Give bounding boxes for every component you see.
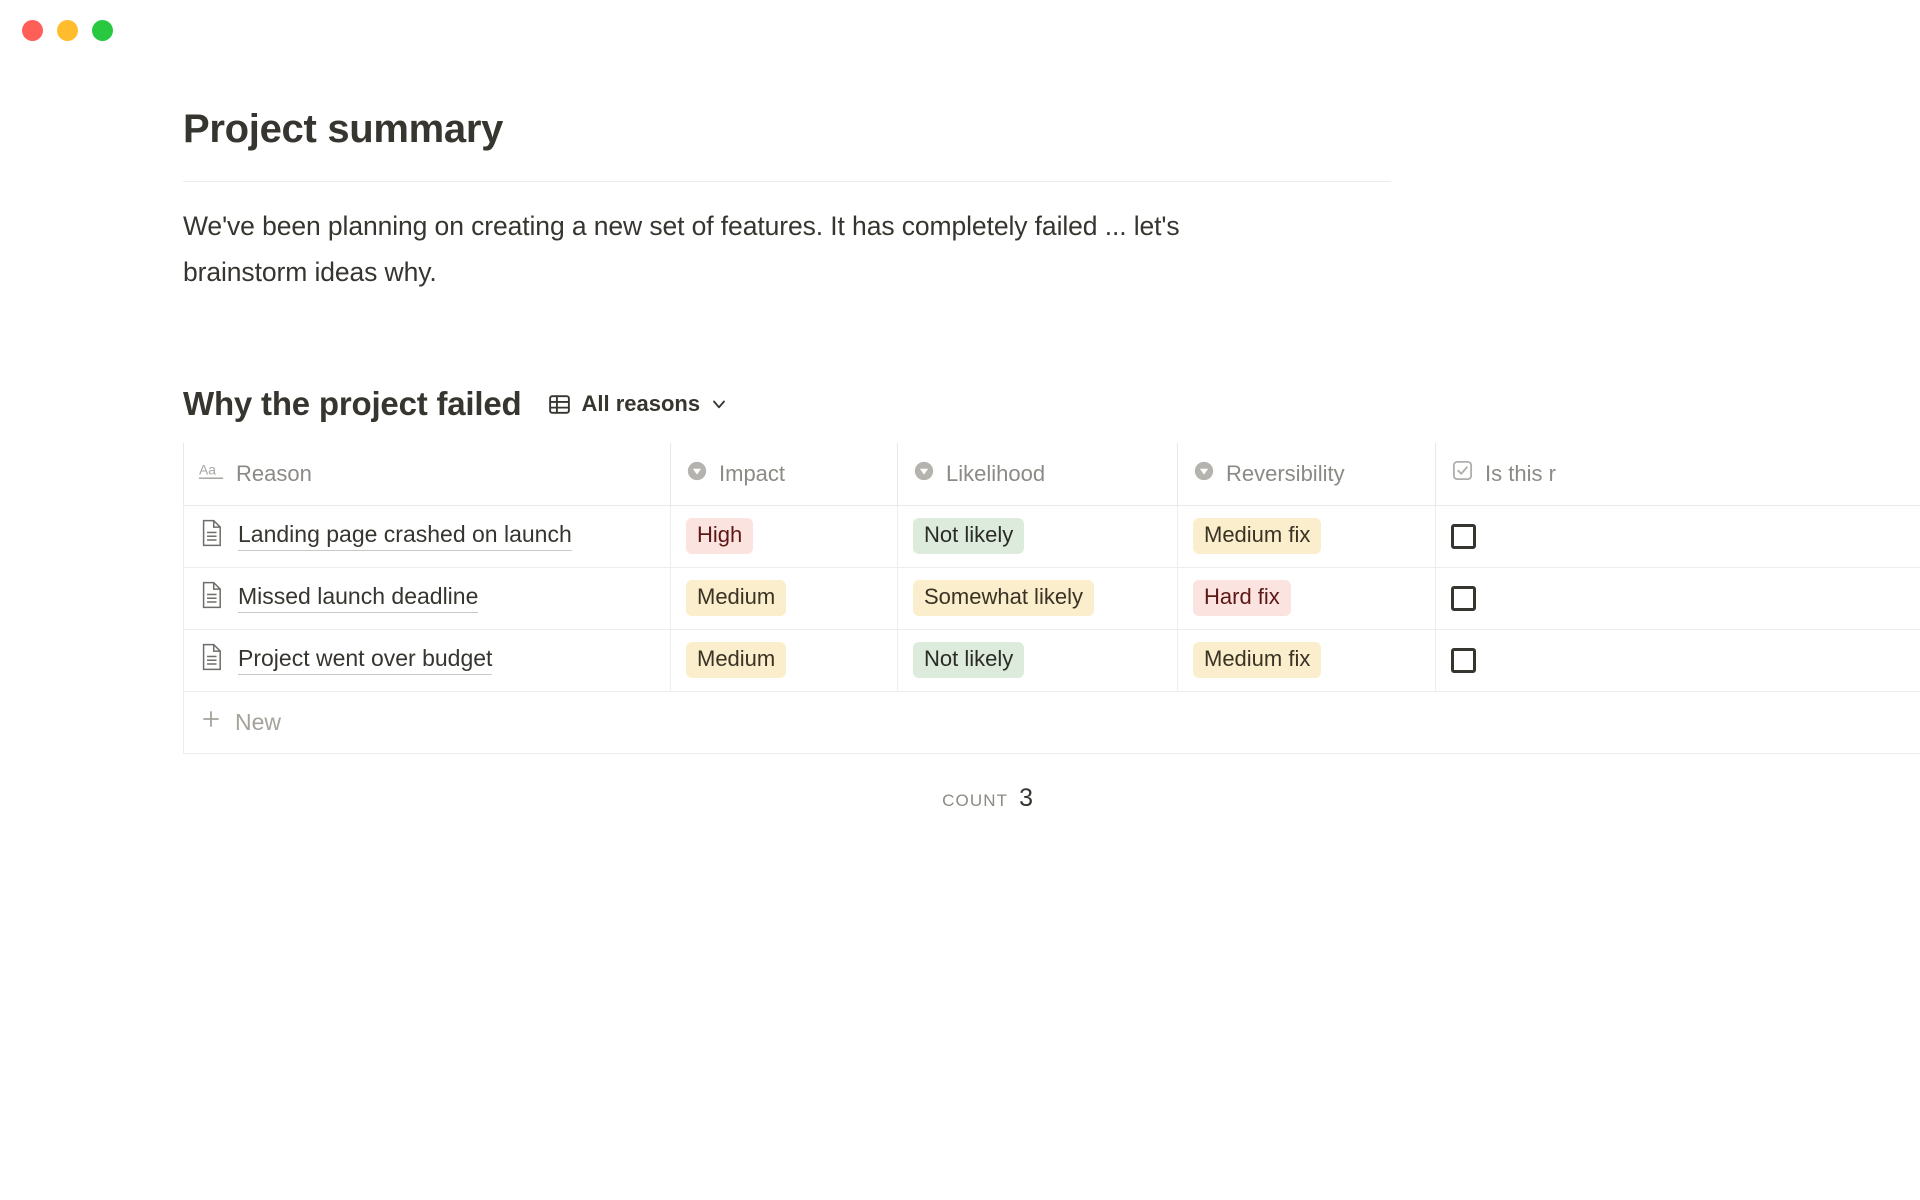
resolved-checkbox[interactable] xyxy=(1451,524,1476,549)
row-title-link[interactable]: Landing page crashed on launch xyxy=(238,521,572,551)
resolved-checkbox[interactable] xyxy=(1451,648,1476,673)
checkbox-checked-icon xyxy=(1451,459,1474,488)
svg-text:Aa: Aa xyxy=(199,462,216,478)
select-circle-icon xyxy=(686,460,708,488)
cell-reason[interactable]: Project went over budget xyxy=(184,629,671,691)
table-row[interactable]: Landing page crashed on launch High Not … xyxy=(184,505,1920,567)
column-header-label: Impact xyxy=(719,461,785,487)
cell-impact[interactable]: Medium xyxy=(671,629,898,691)
select-circle-icon xyxy=(1193,460,1215,488)
column-header-label: Reason xyxy=(236,461,312,487)
cell-likelihood[interactable]: Somewhat likely xyxy=(898,567,1178,629)
impact-tag: High xyxy=(686,518,753,554)
close-window-button[interactable] xyxy=(22,20,43,41)
count-label: COUNT xyxy=(942,791,1008,811)
database-header: Why the project failed All reasons xyxy=(183,385,1920,423)
column-header-reason[interactable]: Aa Reason xyxy=(184,443,671,505)
table-footer: COUNT 3 xyxy=(183,784,1033,813)
column-header-impact[interactable]: Impact xyxy=(671,443,898,505)
cell-reason[interactable]: Landing page crashed on launch xyxy=(184,505,671,567)
select-circle-icon xyxy=(913,460,935,488)
impact-tag: Medium xyxy=(686,580,786,616)
cell-impact[interactable]: High xyxy=(671,505,898,567)
row-title-link[interactable]: Project went over budget xyxy=(238,645,492,675)
reversibility-tag: Medium fix xyxy=(1193,642,1321,678)
page-content: Project summary We've been planning on c… xyxy=(0,105,1920,813)
page-title: Project summary xyxy=(183,105,1920,153)
cell-is-this-resolved[interactable] xyxy=(1436,567,1920,629)
window-titlebar xyxy=(0,0,1920,60)
reversibility-tag: Hard fix xyxy=(1193,580,1291,616)
impact-tag: Medium xyxy=(686,642,786,678)
page-icon xyxy=(199,581,225,615)
cell-reversibility[interactable]: Medium fix xyxy=(1178,629,1436,691)
likelihood-tag: Somewhat likely xyxy=(913,580,1094,616)
cell-reversibility[interactable]: Hard fix xyxy=(1178,567,1436,629)
cell-is-this-resolved[interactable] xyxy=(1436,505,1920,567)
new-row[interactable]: New xyxy=(184,691,1920,753)
new-row-label: New xyxy=(235,709,281,736)
table-row[interactable]: Missed launch deadline Medium Somewhat l… xyxy=(184,567,1920,629)
page-icon xyxy=(199,519,225,553)
column-header-is-this-resolved[interactable]: Is this r xyxy=(1436,443,1920,505)
reversibility-tag: Medium fix xyxy=(1193,518,1321,554)
title-divider xyxy=(183,181,1391,182)
resolved-checkbox[interactable] xyxy=(1451,586,1476,611)
minimize-window-button[interactable] xyxy=(57,20,78,41)
maximize-window-button[interactable] xyxy=(92,20,113,41)
row-title-link[interactable]: Missed launch deadline xyxy=(238,583,478,613)
cell-likelihood[interactable]: Not likely xyxy=(898,629,1178,691)
cell-impact[interactable]: Medium xyxy=(671,567,898,629)
column-header-likelihood[interactable]: Likelihood xyxy=(898,443,1178,505)
table-icon xyxy=(547,392,572,417)
database-title: Why the project failed xyxy=(183,385,521,423)
table-row[interactable]: Project went over budget Medium Not like… xyxy=(184,629,1920,691)
text-aa-icon: Aa xyxy=(199,461,225,487)
new-row-cell[interactable]: New xyxy=(184,691,1920,753)
cell-reversibility[interactable]: Medium fix xyxy=(1178,505,1436,567)
cell-reason[interactable]: Missed launch deadline xyxy=(184,567,671,629)
chevron-down-icon xyxy=(709,394,729,414)
window-traffic-lights xyxy=(22,20,113,41)
view-selector[interactable]: All reasons xyxy=(543,389,733,419)
summary-paragraph: We've been planning on creating a new se… xyxy=(183,204,1303,295)
column-header-label: Likelihood xyxy=(946,461,1045,487)
reasons-table: Aa Reason Impact xyxy=(183,443,1920,754)
view-selector-label: All reasons xyxy=(581,391,700,417)
plus-icon xyxy=(199,707,223,737)
cell-likelihood[interactable]: Not likely xyxy=(898,505,1178,567)
likelihood-tag: Not likely xyxy=(913,518,1024,554)
cell-is-this-resolved[interactable] xyxy=(1436,629,1920,691)
table-header-row: Aa Reason Impact xyxy=(184,443,1920,505)
column-header-reversibility[interactable]: Reversibility xyxy=(1178,443,1436,505)
page-icon xyxy=(199,643,225,677)
column-header-label: Reversibility xyxy=(1226,461,1345,487)
likelihood-tag: Not likely xyxy=(913,642,1024,678)
column-header-label: Is this r xyxy=(1485,461,1556,487)
count-value: 3 xyxy=(1019,784,1033,813)
